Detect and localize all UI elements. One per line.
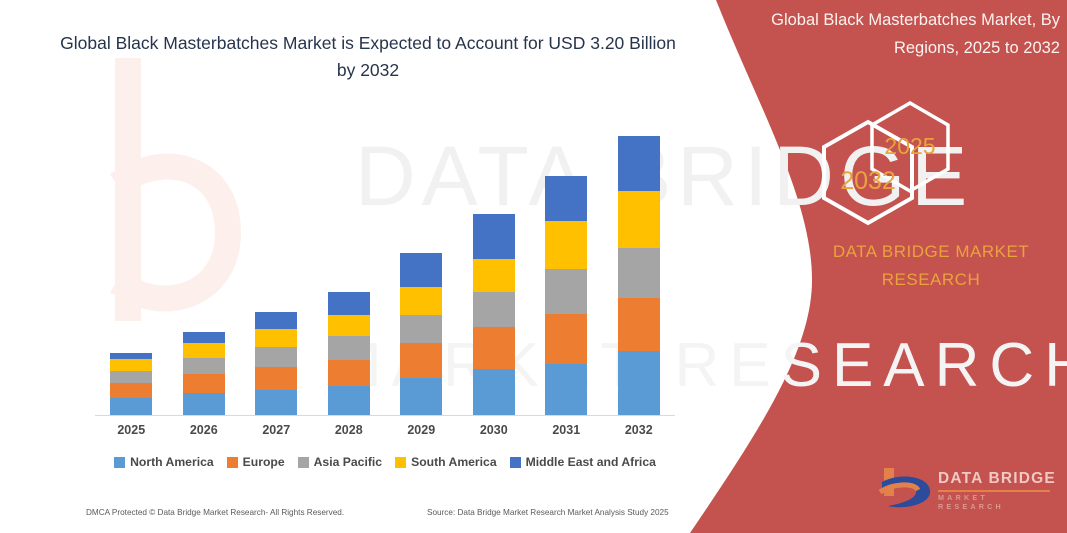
bar-segment[interactable] (545, 364, 587, 417)
bar-segment[interactable] (473, 327, 515, 369)
x-axis-label-2029: 2029 (385, 423, 458, 437)
legend-label: South America (411, 455, 497, 469)
logo-divider (938, 490, 1050, 492)
bar-segment[interactable] (183, 358, 225, 374)
panel-title: Global Black Masterbatches Market, By Re… (742, 6, 1060, 62)
stacked-bar-2030[interactable] (473, 214, 515, 416)
stacked-bar-2026[interactable] (183, 332, 225, 416)
bar-slot (313, 101, 386, 416)
stacked-bar-2032[interactable] (618, 136, 660, 416)
x-axis-label-2028: 2028 (313, 423, 386, 437)
bar-segment[interactable] (110, 371, 152, 383)
bar-segment[interactable] (183, 393, 225, 416)
legend-item[interactable]: South America (395, 455, 497, 469)
hexagon-label-large: 2032 (840, 167, 896, 195)
legend-swatch-icon (395, 457, 406, 468)
bar-segment[interactable] (400, 253, 442, 287)
stacked-bar-2027[interactable] (255, 312, 297, 416)
stacked-bar-2031[interactable] (545, 176, 587, 416)
x-axis-label-2031: 2031 (530, 423, 603, 437)
bar-segment[interactable] (183, 374, 225, 393)
bar-segment[interactable] (110, 398, 152, 416)
bar-segment[interactable] (110, 359, 152, 370)
bar-segment[interactable] (110, 383, 152, 398)
hexagon-group: 2025 2032 (812, 98, 992, 228)
legend-swatch-icon (298, 457, 309, 468)
logo-text-secondary: MARKET RESEARCH (938, 493, 1058, 511)
bar-segment[interactable] (473, 369, 515, 416)
bar-segment[interactable] (618, 248, 660, 298)
legend-item[interactable]: Asia Pacific (298, 455, 382, 469)
chart-plot-area (95, 100, 675, 416)
bar-segment[interactable] (473, 292, 515, 327)
logo: DATA BRIDGE MARKET RESEARCH (878, 466, 1058, 516)
legend-swatch-icon (114, 457, 125, 468)
bar-segment[interactable] (255, 347, 297, 367)
hexagon-label-small: 2025 (884, 133, 935, 159)
bar-segment[interactable] (473, 214, 515, 259)
bar-segment[interactable] (618, 298, 660, 351)
bar-slot (603, 101, 676, 416)
bar-segment[interactable] (400, 343, 442, 378)
bar-slot (458, 101, 531, 416)
legend-label: Middle East and Africa (526, 455, 656, 469)
stacked-bar-2029[interactable] (400, 253, 442, 416)
x-axis-label-2030: 2030 (458, 423, 531, 437)
legend-item[interactable]: Europe (227, 455, 285, 469)
legend-item[interactable]: North America (114, 455, 214, 469)
legend-item[interactable]: Middle East and Africa (510, 455, 656, 469)
x-axis-labels: 20252026202720282029203020312032 (95, 423, 675, 437)
bar-segment[interactable] (328, 386, 370, 416)
bar-slot (385, 101, 458, 416)
bar-segment[interactable] (545, 221, 587, 269)
bar-segment[interactable] (618, 351, 660, 416)
x-axis-label-2026: 2026 (168, 423, 241, 437)
legend-label: Europe (243, 455, 285, 469)
bar-segment[interactable] (400, 287, 442, 314)
bar-segment[interactable] (328, 292, 370, 316)
legend-swatch-icon (510, 457, 521, 468)
logo-text-primary: DATA BRIDGE (938, 470, 1056, 488)
bar-slot (240, 101, 313, 416)
bar-segment[interactable] (400, 315, 442, 344)
chart-legend: North AmericaEuropeAsia PacificSouth Ame… (95, 455, 675, 469)
bar-segment[interactable] (545, 269, 587, 314)
stacked-bar-2025[interactable] (110, 353, 152, 416)
x-axis-label-2027: 2027 (240, 423, 313, 437)
stacked-bar-group (95, 101, 675, 416)
legend-label: Asia Pacific (314, 455, 382, 469)
bar-segment[interactable] (328, 315, 370, 336)
bar-segment[interactable] (400, 378, 442, 416)
bar-segment[interactable] (618, 191, 660, 248)
x-axis-label-2032: 2032 (603, 423, 676, 437)
bar-slot (95, 101, 168, 416)
footer-source: Source: Data Bridge Market Research Mark… (427, 508, 669, 517)
brand-name: DATA BRIDGE MARKET RESEARCH (800, 238, 1062, 294)
bar-segment[interactable] (255, 312, 297, 329)
bar-segment[interactable] (255, 367, 297, 390)
bar-segment[interactable] (618, 136, 660, 191)
x-axis-label-2025: 2025 (95, 423, 168, 437)
bar-segment[interactable] (473, 259, 515, 292)
bar-segment[interactable] (183, 332, 225, 343)
bar-segment[interactable] (255, 390, 297, 416)
footer-copyright: DMCA Protected © Data Bridge Market Rese… (86, 508, 344, 517)
bar-slot (530, 101, 603, 416)
legend-label: North America (130, 455, 214, 469)
stacked-bar-2028[interactable] (328, 292, 370, 416)
infographic-canvas: DATA BRIDGE MARKET RESEARCH Global Black… (0, 0, 1067, 533)
bar-segment[interactable] (328, 360, 370, 386)
bar-slot (168, 101, 241, 416)
x-axis-line (95, 415, 675, 416)
bar-segment[interactable] (183, 343, 225, 358)
chart-title: Global Black Masterbatches Market is Exp… (58, 30, 678, 84)
bar-segment[interactable] (255, 329, 297, 347)
legend-swatch-icon (227, 457, 238, 468)
bar-segment[interactable] (328, 336, 370, 360)
logo-b-mark (878, 466, 934, 514)
bar-segment[interactable] (545, 314, 587, 364)
bar-segment[interactable] (545, 176, 587, 221)
